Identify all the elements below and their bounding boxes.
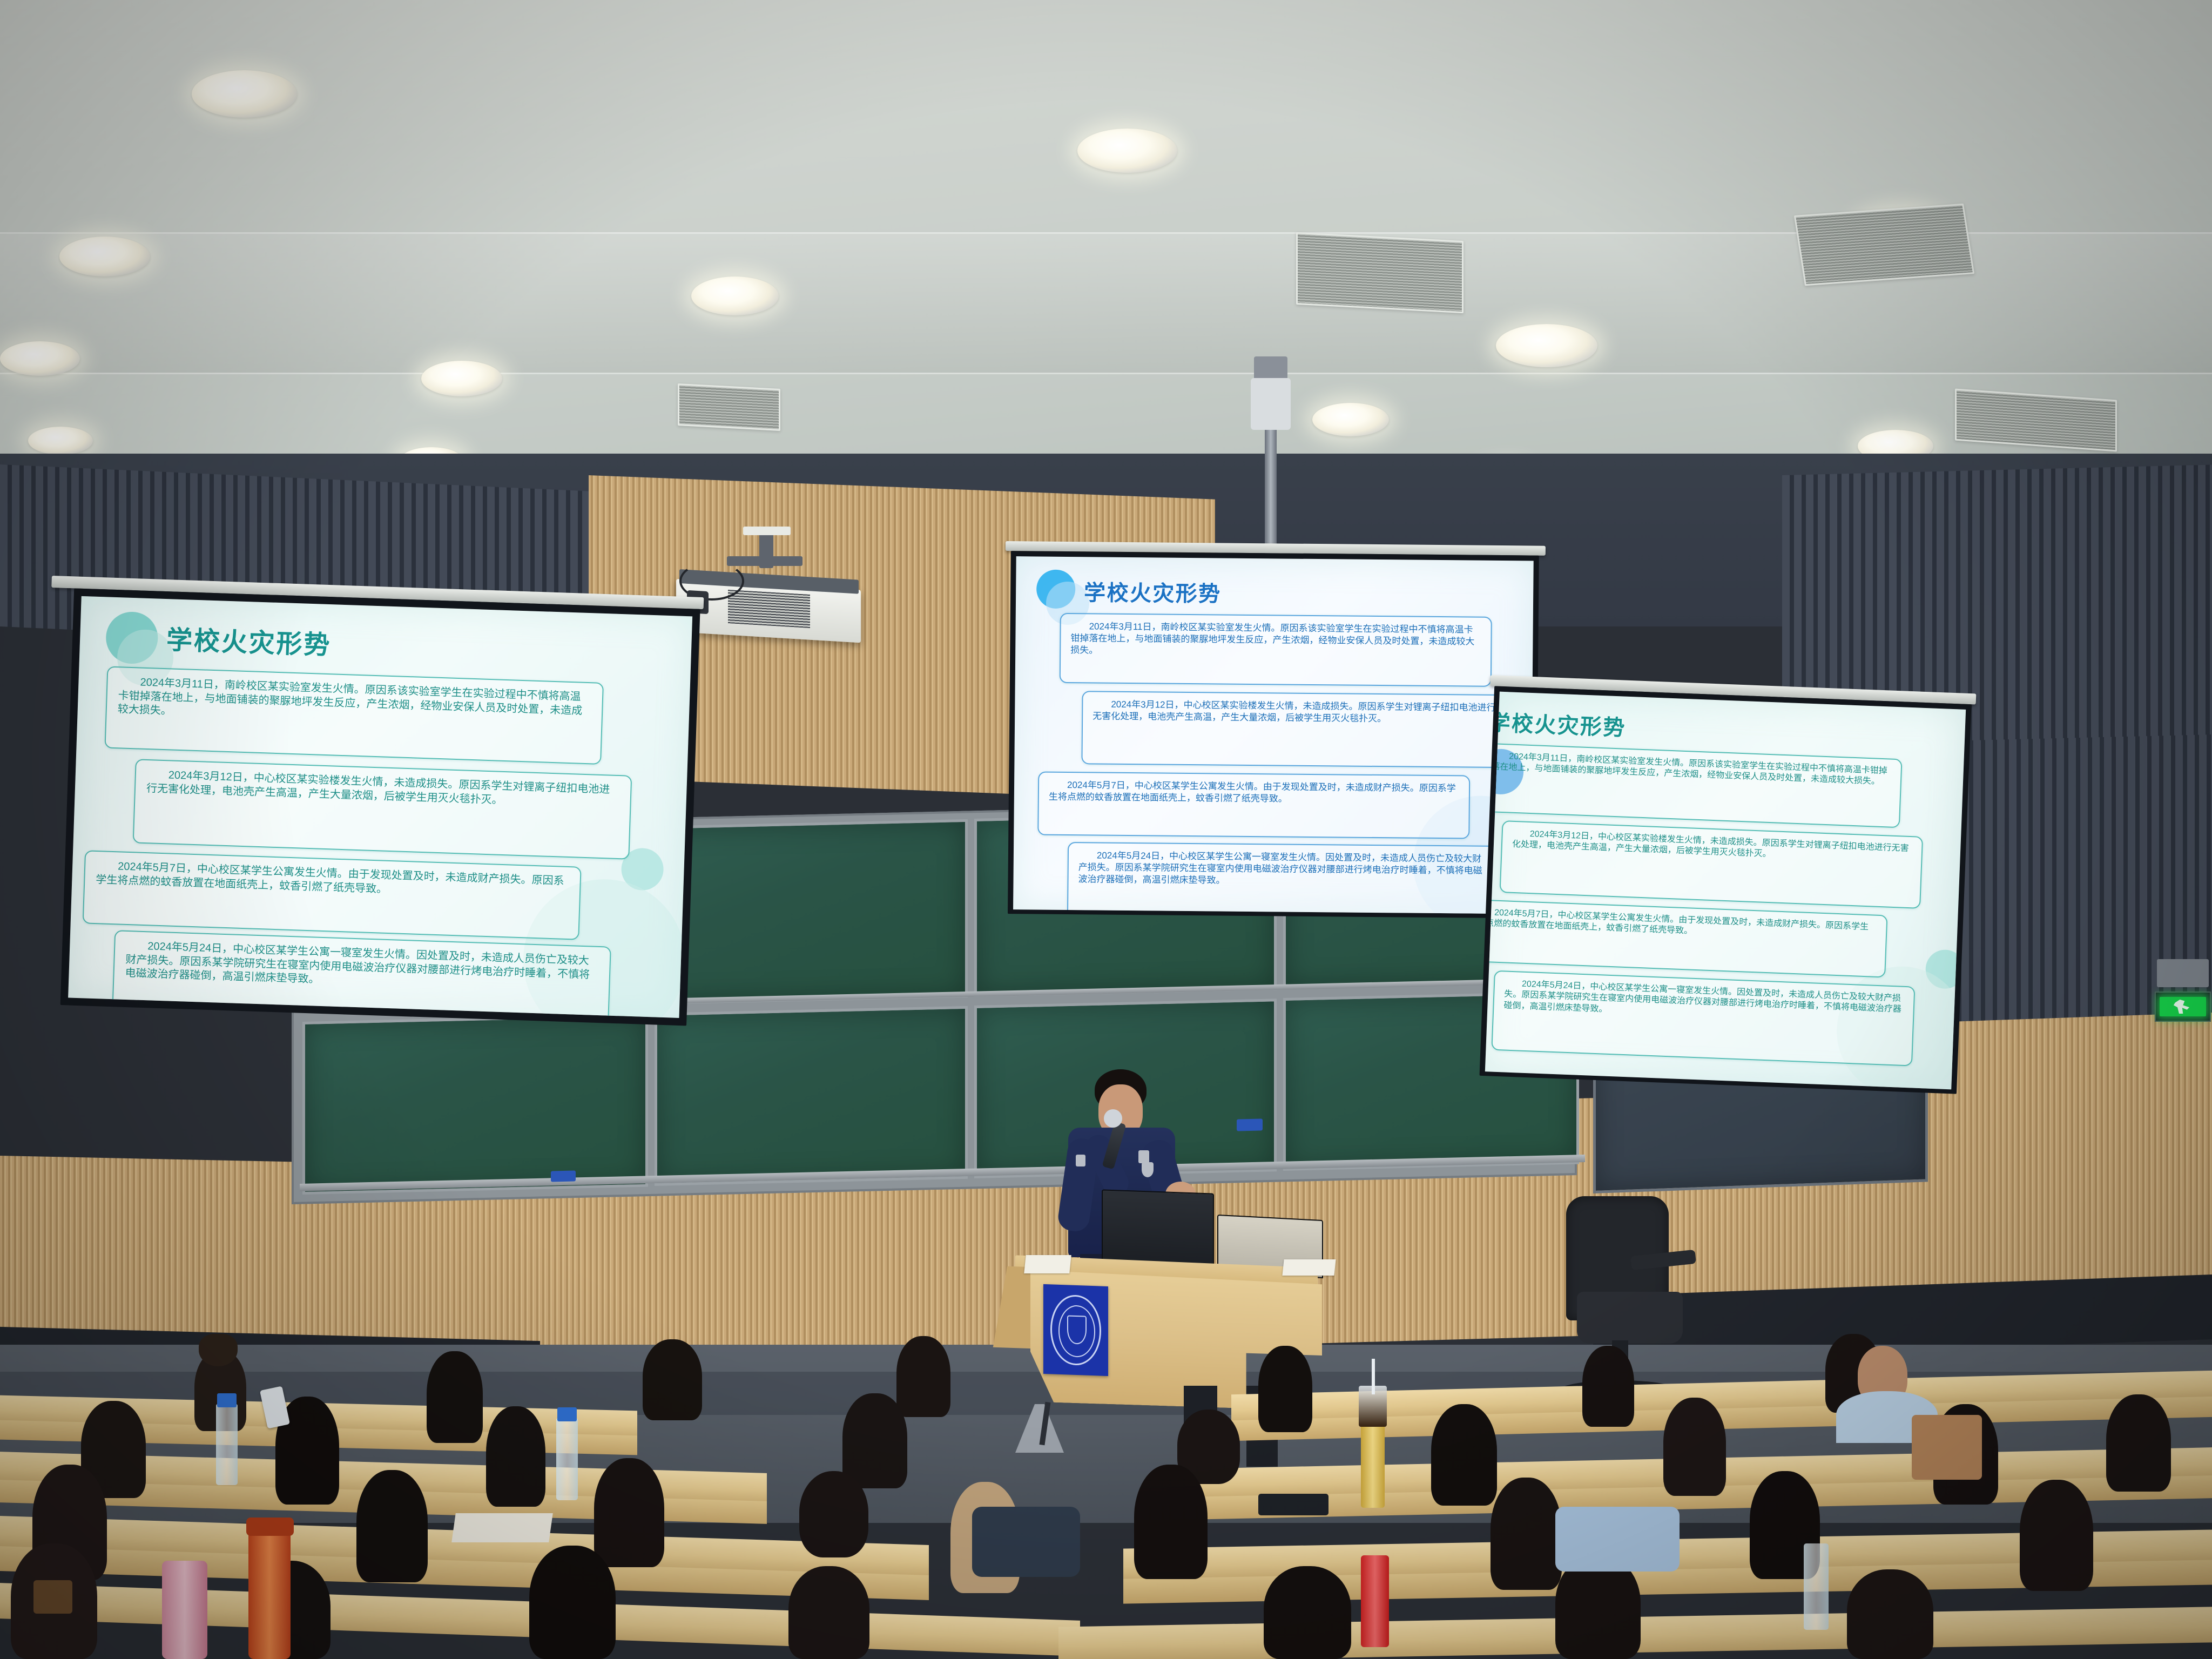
slide-item-4: 2024年5月24日，中心校区某学生公寓一寝室发生火情。因处置及时，未造成人员伤… [1067,842,1500,914]
student-head [799,1471,868,1557]
student-head [2020,1480,2093,1591]
ceiling-light [1312,403,1389,436]
slide-item-text: 2024年5月7日，中心校区某学生公寓发生火情。由于发现处置及时，未造成财产损失… [96,859,569,902]
slide-item-2: 2024年3月12日，中心校区某实验楼发生火情，未造成损失。原因系学生对锂离子纽… [1081,691,1514,768]
water-bottle [1804,1543,1829,1630]
ceiling-light [192,70,297,118]
student-head [486,1406,545,1507]
blackboard-eraser [551,1170,576,1182]
exit-sign-glow [2160,997,2206,1016]
student-head [1134,1465,1208,1579]
podium-university-plaque [1043,1284,1108,1376]
slide-item-1: 2024年3月11日，南岭校区某实验室发生火情。原因系该实验室学生在实验过程中不… [1060,613,1492,687]
student-head [1582,1346,1634,1427]
slide-item-text: 2024年5月7日，中心校区某学生公寓发生火情。由于发现处置及时，未造成财产损失… [1049,779,1459,806]
left-screen: 学校火灾形势 2024年3月11日，南岭校区某实验室发生火情。原因系该实验室学生… [37,576,704,1035]
student-head [529,1546,616,1659]
student-head [1491,1478,1562,1590]
slide-item-3: 2024年5月7日，中心校区某学生公寓发生火情。由于发现处置及时，未造成财产损失… [1485,899,1888,978]
student-head [1847,1569,1933,1659]
student-head [1431,1404,1497,1506]
uniform-emblem [1142,1162,1154,1177]
slide-item-text: 2024年3月12日，中心校区某实验楼发生火情，未造成损失。原因系学生对锂离子纽… [1512,828,1912,866]
slide-item-text: 2024年5月7日，中心校区某学生公寓发生火情。由于发现处置及时，未造成财产损失… [1485,907,1877,944]
hvac-vent [678,383,780,431]
ceiling-light [59,237,150,276]
slide-item-2: 2024年3月12日，中心校区某实验楼发生火情，未造成损失。原因系学生对锂离子纽… [133,759,632,859]
microphone-head [1104,1109,1122,1128]
student-head [1264,1566,1351,1659]
pink-tumbler [162,1561,207,1659]
projector-mount-bar [727,556,802,566]
right-screen: 学校火灾形势 2024年3月11日，南岭校区某实验室发生火情。原因系该实验室学生… [1475,675,1977,1104]
running-man-icon [2174,1000,2189,1014]
projector-vent [728,590,810,628]
slide-item-text: 2024年3月12日，中心校区某实验楼发生火情，未造成损失。原因系学生对锂离子纽… [146,768,620,811]
hvac-vent [1794,204,1974,286]
ceiling-light [28,427,93,455]
bottle-cap [217,1393,237,1407]
ceiling-light [0,341,80,376]
slide-item-1: 2024年3月11日，南岭校区某实验室发生火情。原因系该实验室学生在实验过程中不… [104,666,604,764]
tumbler-lid [246,1518,294,1536]
notebook [451,1513,553,1542]
hvac-vent [1296,232,1464,313]
ceiling [0,0,2212,464]
student-head [788,1566,869,1659]
slide-item-text: 2024年5月24日，中心校区某学生公寓一寝室发生火情。因处置及时，未造成人员伤… [1503,978,1904,1027]
student-ponytail [199,1334,238,1366]
slide-title: 学校火灾形势 [166,618,332,662]
hvac-vent [1955,389,2117,452]
university-seal-icon [1050,1294,1101,1366]
uniform-badge-right [1138,1150,1149,1163]
slide-title: 学校火灾形势 [1488,705,1627,742]
slide-item-4: 2024年5月24日，中心校区某学生公寓一寝室发生火情。因处置及时，未造成人员伤… [1491,970,1915,1067]
office-chair-seat [1577,1292,1683,1344]
podium-papers [1282,1259,1336,1276]
blackboard-panel [655,1006,968,1186]
water-bottle [216,1404,238,1485]
student-head [2106,1394,2171,1492]
slide-item-3: 2024年5月7日，中心校区某学生公寓发生火情。由于发现处置及时，未造成财产损失… [83,850,582,940]
slide-item-2: 2024年3月12日，中心校区某实验楼发生火情，未造成损失。原因系学生对锂离子纽… [1500,820,1924,909]
projector-ceiling-plate [743,527,791,535]
juice-bottle [1361,1421,1385,1508]
ceiling-light [1496,324,1597,367]
slide-item-text: 2024年3月11日，南岭校区某实验室发生火情。原因系该实验室学生在实验过程中不… [117,675,591,732]
ceiling-light [1077,129,1177,173]
student-head [896,1336,950,1417]
slide-item-3: 2024年5月7日，中心校区某学生公寓发生火情。由于发现处置及时，未造成财产损失… [1037,772,1470,839]
slide-item-text: 2024年3月11日，南岭校区某实验室发生火情。原因系该实验室学生在实验过程中不… [1070,621,1481,659]
student-head [1258,1346,1312,1432]
blackboard-panel [655,819,968,1004]
student-head [356,1470,428,1582]
student-head [842,1393,907,1488]
slide-item-text: 2024年3月11日，南岭校区某实验室发生火情。原因系该实验室学生在实验过程中不… [1491,751,1891,788]
slide-item-1: 2024年3月11日，南岭校区某实验室发生火情。原因系该实验室学生在实验过程中不… [1485,743,1903,828]
water-bottle [556,1418,578,1500]
blackboard-panel [302,1014,648,1195]
backpack [972,1507,1080,1577]
pole-camera [1251,378,1291,430]
exit-sign-bracket [2157,959,2209,987]
red-label-bottle [1361,1555,1389,1647]
podium-papers [1024,1255,1071,1273]
bottle-cap [557,1407,577,1421]
student-head [1663,1398,1726,1496]
slide-item-text: 2024年5月24日，中心校区某学生公寓一寝室发生火情。因处置及时，未造成人员伤… [125,939,599,996]
student-head [594,1458,664,1567]
tote-bag [1912,1415,1982,1480]
slide-surface: 学校火灾形势 2024年3月11日，南岭校区某实验室发生火情。原因系该实验室学生… [1013,556,1534,914]
uniform-badge-left [1076,1155,1085,1166]
tablet-device[interactable] [1258,1494,1328,1515]
slide-title: 学校火灾形势 [1084,575,1222,608]
slide-surface: 学校火灾形势 2024年3月11日，南岭校区某实验室发生火情。原因系该实验室学生… [1485,692,1966,1090]
slide-item-text: 2024年5月24日，中心校区某学生公寓一寝室发生火情。因处置及时，未造成人员伤… [1078,849,1489,888]
lecture-hall-photo: 学校火灾形势 2024年3月11日，南岭校区某实验室发生火情。原因系该实验室学生… [0,0,2212,1659]
ceiling-light [421,361,502,396]
blackboard-eraser [1237,1118,1263,1131]
student-head [427,1351,483,1443]
student-head [643,1339,702,1420]
slide-item-text: 2024年3月12日，中心校区某实验楼发生火情，未造成损失。原因系学生对锂离子纽… [1092,698,1503,725]
ceiling-light [691,276,779,315]
drinking-straw [1372,1359,1375,1394]
denim-jacket [1555,1507,1680,1572]
orange-tumbler [248,1528,291,1659]
slide-surface: 学校火灾形势 2024年3月11日，南岭校区某实验室发生火情。原因系该实验室学生… [68,596,692,1018]
center-screen: 学校火灾形势 2024年3月11日，南岭校区某实验室发生火情。原因系该实验室学生… [1002,541,1546,924]
hair-clip [33,1580,72,1614]
emergency-exit-sign [2155,992,2211,1022]
